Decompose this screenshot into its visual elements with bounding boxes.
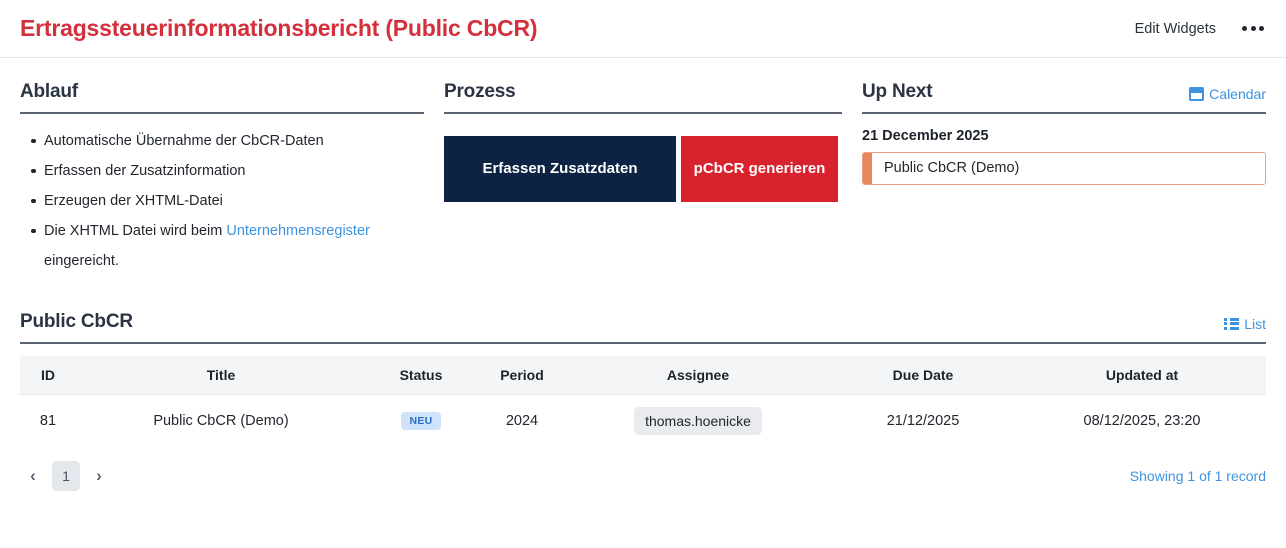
edit-widgets-button[interactable]: Edit Widgets	[1135, 21, 1216, 37]
assignee-chip: thomas.hoenicke	[634, 407, 762, 435]
up-next-date: 21 December 2025	[862, 128, 1266, 144]
column-header-updated-at[interactable]: Updated at	[1018, 356, 1266, 395]
public-cbcr-section-header: Public CbCR List	[20, 311, 1266, 344]
widget-ablauf-header: Ablauf	[20, 82, 424, 114]
table-body: 81 Public CbCR (Demo) NEU 2024 thomas.ho…	[20, 394, 1266, 447]
event-accent-bar	[863, 153, 872, 184]
public-cbcr-section: Public CbCR List ID Title Status Period …	[0, 311, 1286, 447]
list-icon-dot	[1224, 318, 1227, 321]
widget-prozess-header: Prozess	[444, 82, 842, 114]
cell-updated-at: 08/12/2025, 23:20	[1018, 394, 1266, 447]
list-icon-dot	[1224, 327, 1227, 330]
calendar-link[interactable]: Calendar	[1189, 86, 1266, 103]
list-icon-line	[1230, 322, 1240, 325]
cell-due-date: 21/12/2025	[828, 394, 1018, 447]
widgets-row: Ablauf Automatische Übernahme der CbCR-D…	[0, 58, 1286, 276]
erfassen-zusatzdaten-button[interactable]: Erfassen Zusatzdaten	[444, 136, 676, 202]
list-item-with-link: Die XHTML Datei wird beim Unternehmensre…	[44, 216, 424, 276]
list-item-prefix: Die XHTML Datei wird beim	[44, 223, 226, 239]
event-label: Public CbCR (Demo)	[872, 160, 1019, 176]
chevron-left-icon[interactable]: ‹	[20, 461, 46, 491]
widget-up-next-title: Up Next	[862, 82, 932, 103]
chevron-right-icon[interactable]: ›	[86, 461, 112, 491]
list-view-label: List	[1244, 316, 1266, 332]
column-header-assignee[interactable]: Assignee	[568, 356, 828, 395]
pcbcr-generieren-button[interactable]: pCbCR generieren	[681, 136, 838, 202]
column-header-due-date[interactable]: Due Date	[828, 356, 1018, 395]
pagination-row: ‹ 1 › Showing 1 of 1 record	[0, 447, 1286, 491]
header-actions: Edit Widgets	[1135, 21, 1266, 37]
status-badge: NEU	[401, 412, 440, 431]
column-header-id[interactable]: ID	[20, 356, 76, 395]
list-item-suffix: eingereicht.	[44, 253, 119, 269]
list-item: Automatische Übernahme der CbCR-Daten	[44, 126, 424, 156]
page-title: Ertragssteuerinformationsbericht (Public…	[20, 15, 537, 42]
column-header-title[interactable]: Title	[76, 356, 366, 395]
cell-assignee: thomas.hoenicke	[568, 394, 828, 447]
cell-title: Public CbCR (Demo)	[76, 394, 366, 447]
list-icon-row	[1224, 322, 1239, 325]
column-header-status[interactable]: Status	[366, 356, 476, 395]
widget-prozess-title: Prozess	[444, 82, 515, 103]
calendar-icon	[1189, 87, 1204, 101]
table-header: ID Title Status Period Assignee Due Date…	[20, 356, 1266, 395]
list-icon-row	[1224, 318, 1239, 321]
pagination: ‹ 1 ›	[20, 461, 112, 491]
list-icon-line	[1230, 318, 1240, 321]
page-header: Ertragssteuerinformationsbericht (Public…	[0, 0, 1286, 58]
records-table: ID Title Status Period Assignee Due Date…	[20, 356, 1266, 447]
pagination-page-1[interactable]: 1	[52, 461, 80, 491]
section-title: Public CbCR	[20, 311, 133, 333]
unternehmensregister-link[interactable]: Unternehmensregister	[226, 223, 369, 239]
kebab-dot	[1259, 26, 1264, 31]
column-header-period[interactable]: Period	[476, 356, 568, 395]
list-item: Erfassen der Zusatzinformation	[44, 156, 424, 186]
list-icon-row	[1224, 327, 1239, 330]
widget-ablauf-title: Ablauf	[20, 82, 78, 103]
kebab-dot	[1251, 26, 1256, 31]
list-icon-line	[1230, 327, 1240, 330]
up-next-event-card[interactable]: Public CbCR (Demo)	[862, 152, 1266, 185]
kebab-horizontal-icon[interactable]	[1242, 22, 1264, 35]
list-icon-dot	[1224, 322, 1227, 325]
list-item: Erzeugen der XHTML-Datei	[44, 186, 424, 216]
widget-prozess: Prozess Erfassen Zusatzdaten pCbCR gener…	[444, 82, 842, 276]
ablauf-list: Automatische Übernahme der CbCR-Daten Er…	[20, 126, 424, 276]
kebab-dot	[1242, 26, 1247, 31]
widget-up-next-header: Up Next Calendar	[862, 82, 1266, 114]
cell-status: NEU	[366, 394, 476, 447]
table-header-row: ID Title Status Period Assignee Due Date…	[20, 356, 1266, 395]
table-row[interactable]: 81 Public CbCR (Demo) NEU 2024 thomas.ho…	[20, 394, 1266, 447]
cell-id[interactable]: 81	[20, 394, 76, 447]
cell-period: 2024	[476, 394, 568, 447]
calendar-link-label: Calendar	[1209, 86, 1266, 102]
widget-up-next: Up Next Calendar 21 December 2025 Public…	[862, 82, 1266, 276]
showing-records-label[interactable]: Showing 1 of 1 record	[1130, 468, 1266, 484]
prozess-buttons: Erfassen Zusatzdaten pCbCR generieren	[444, 136, 842, 202]
list-icon	[1224, 318, 1239, 330]
widget-ablauf: Ablauf Automatische Übernahme der CbCR-D…	[20, 82, 424, 276]
list-view-link[interactable]: List	[1224, 316, 1266, 333]
